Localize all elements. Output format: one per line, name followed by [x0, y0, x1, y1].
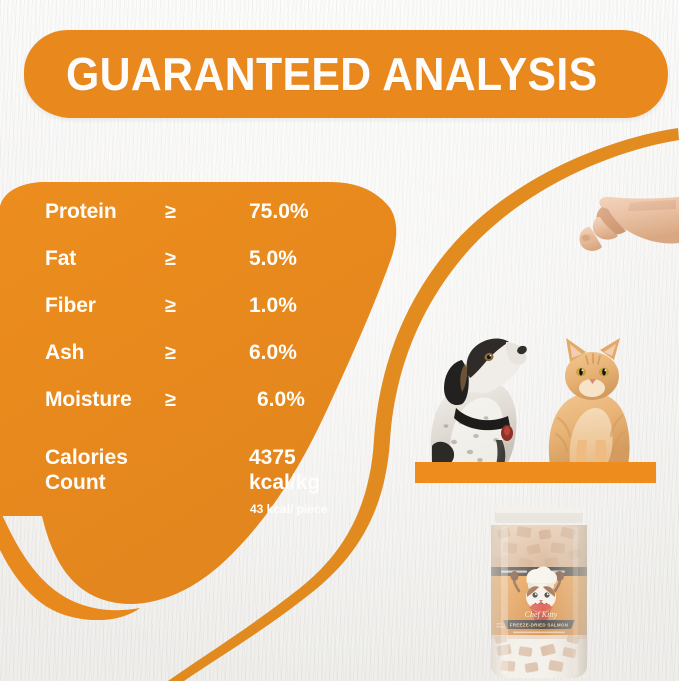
calories-label: Calories Count	[45, 445, 128, 495]
nutrient-label: Fat	[45, 247, 76, 271]
nutrient-label: Moisture	[45, 388, 132, 412]
calories-value: 4375 kcal/kg	[249, 445, 320, 495]
nutrient-value: 6.0%	[257, 388, 305, 412]
nutrient-value: 75.0%	[249, 200, 309, 224]
orange-shelf-bar	[415, 462, 656, 483]
table-row: Ash ≥ 6.0%	[45, 341, 345, 388]
product-infographic: GUARANTEED ANALYSIS Protein ≥ 75.0% Fat …	[0, 0, 679, 681]
nutrient-operator: ≥	[165, 389, 176, 412]
cat-figure	[549, 338, 630, 465]
nutrient-value: 6.0%	[249, 341, 297, 365]
calories-per-piece-note: 43 kcal/ piece	[250, 502, 327, 516]
nutrition-table: Protein ≥ 75.0% Fat ≥ 5.0% Fiber ≥ 1.0% …	[45, 200, 345, 435]
nutrient-operator: ≥	[165, 295, 176, 318]
table-row: Moisture ≥ 6.0%	[45, 388, 345, 435]
product-jar: Chef Kitty FREEZE-DRIED SALMON	[477, 505, 601, 681]
nutrient-label: Protein	[45, 200, 117, 224]
table-row: Fiber ≥ 1.0%	[45, 294, 345, 341]
nutrient-operator: ≥	[165, 342, 176, 365]
nutrient-operator: ≥	[165, 201, 176, 224]
nutrient-operator: ≥	[165, 248, 176, 271]
nutrient-label: Ash	[45, 341, 84, 365]
hand-holding-treat-icon	[572, 195, 679, 257]
nutrient-value: 1.0%	[249, 294, 297, 318]
table-row: Protein ≥ 75.0%	[45, 200, 345, 247]
dog-and-cat-photo	[410, 300, 670, 465]
nutrient-value: 5.0%	[249, 247, 297, 271]
nutrient-label: Fiber	[45, 294, 96, 318]
table-row: Fat ≥ 5.0%	[45, 247, 345, 294]
dog-figure	[431, 339, 528, 465]
page-title: GUARANTEED ANALYSIS	[66, 46, 605, 102]
